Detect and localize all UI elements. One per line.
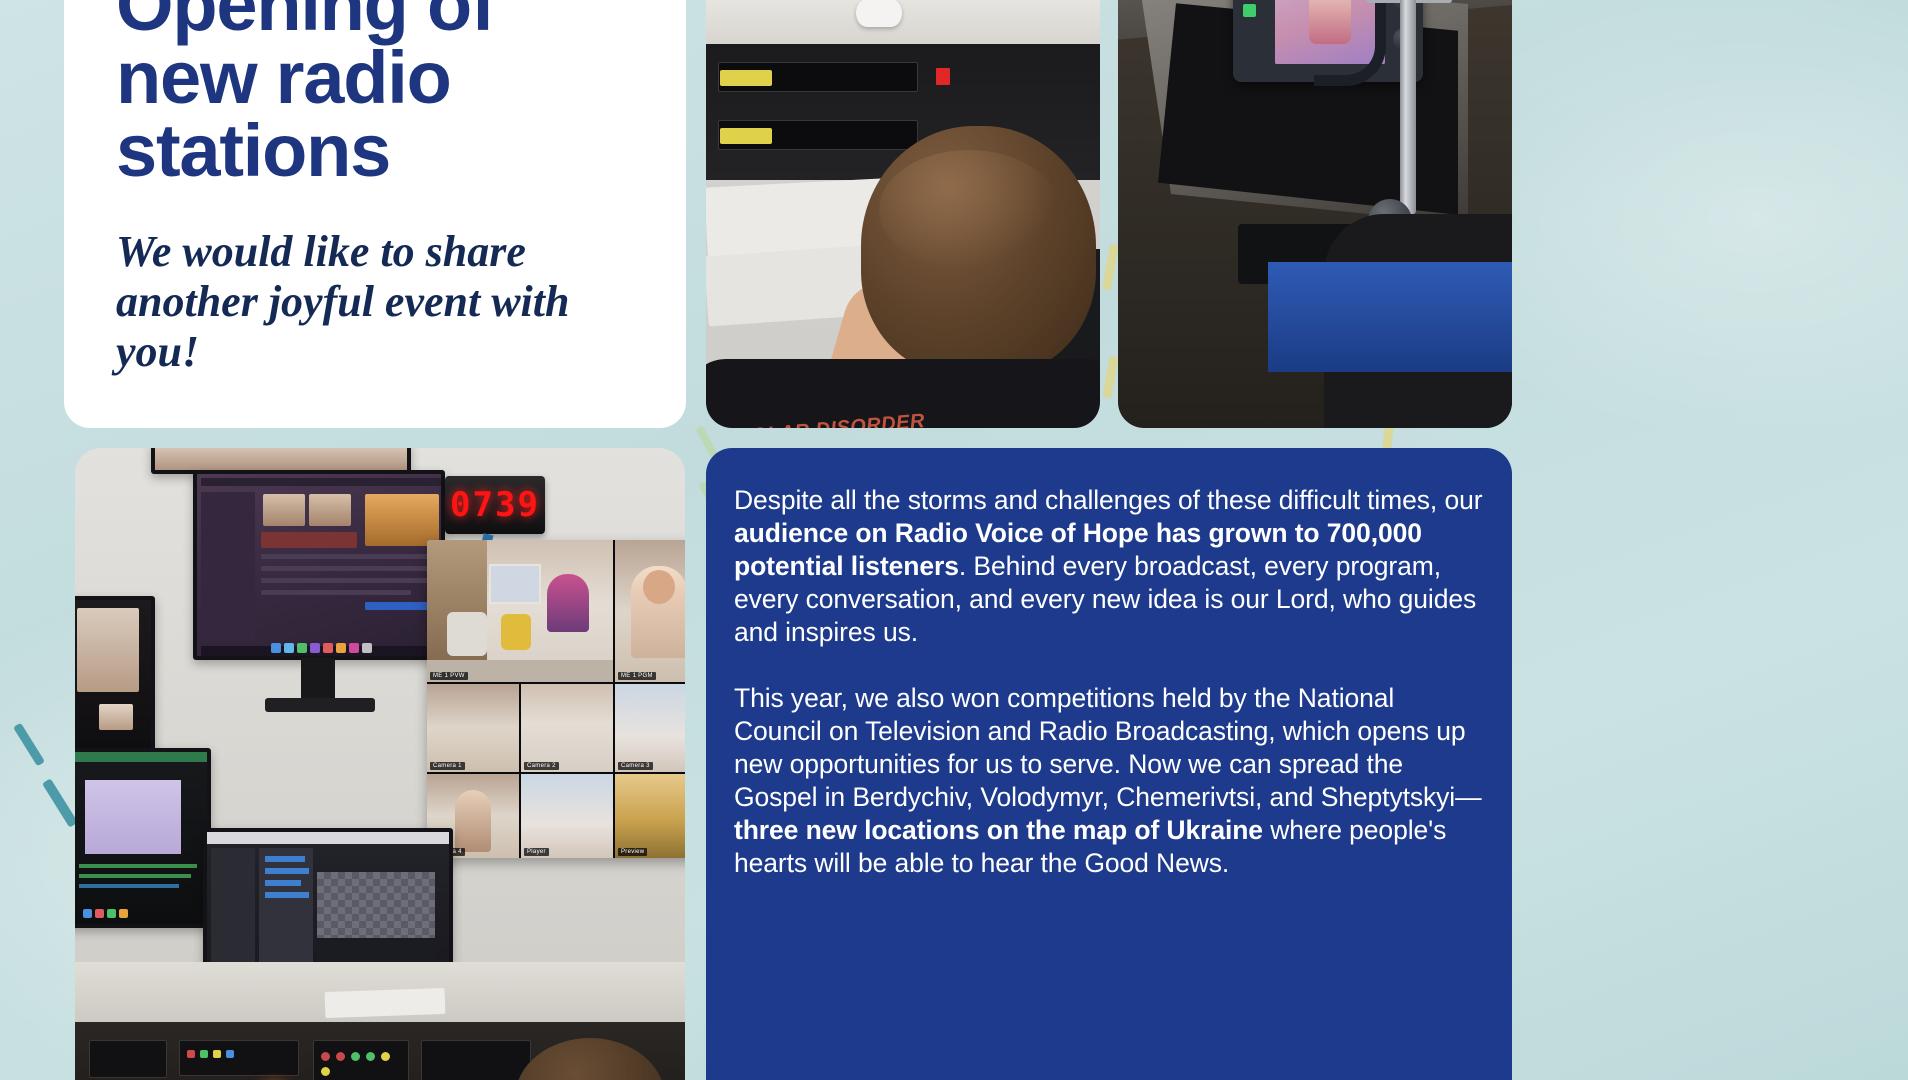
photo-radio-engineer: BIPOLAR DISORDER xyxy=(706,0,1100,428)
description-panel: Despite all the storms and challenges of… xyxy=(706,448,1512,1080)
studio-clock-time: 0739 xyxy=(450,485,540,525)
multiview-label: Camera 2 xyxy=(524,762,559,770)
multiview-monitor: ME 1 PVW ME 1 PGM Camera 1 Camera 2 Came… xyxy=(427,540,685,858)
multiview-label: Camera 1 xyxy=(430,762,465,770)
photo-camera-rig-image xyxy=(1118,0,1512,428)
page-title: Opening of new radio stations xyxy=(116,0,634,187)
multiview-label: Preview xyxy=(618,848,647,856)
title-card: Opening of new radio stations We would l… xyxy=(64,0,686,428)
keyboard-icon xyxy=(325,988,446,1018)
para1-part1: Despite all the storms and challenges of… xyxy=(734,485,1482,515)
photo-radio-engineer-image: BIPOLAR DISORDER xyxy=(706,0,1100,428)
multiview-label: Camera 3 xyxy=(618,762,653,770)
multiview-label: ME 1 PGM xyxy=(618,672,656,680)
multiview-label: Player xyxy=(524,848,549,856)
mouse-icon xyxy=(856,0,902,27)
paragraph-new-locations: This year, we also won competitions held… xyxy=(734,682,1484,880)
photo-studio-control-room: 0739 ME 1 PVW ME 1 PGM Camera 1 xyxy=(75,448,685,1080)
paragraph-audience-growth: Despite all the storms and challenges of… xyxy=(734,484,1484,649)
para2-part1: This year, we also won competitions held… xyxy=(734,683,1482,812)
photo-camera-rig xyxy=(1118,0,1512,428)
audio-control-rack xyxy=(75,1022,685,1080)
photo-studio-control-room-image: 0739 ME 1 PVW ME 1 PGM Camera 1 xyxy=(75,448,685,1080)
page-subtitle: We would like to share another joyful ev… xyxy=(116,227,586,377)
studio-clock: 0739 xyxy=(445,476,545,534)
para2-bold1: three new locations on the map of Ukrain… xyxy=(734,815,1263,845)
multiview-label: ME 1 PVW xyxy=(430,672,468,680)
